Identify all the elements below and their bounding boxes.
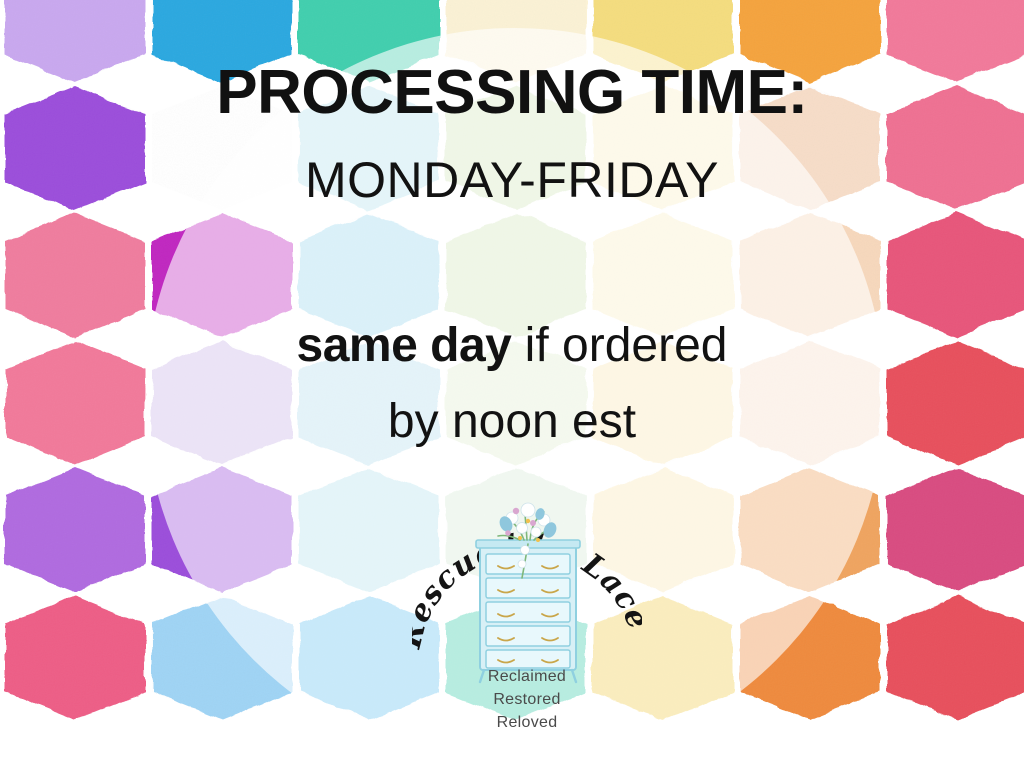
subtitle-days: MONDAY-FRIDAY xyxy=(0,155,1024,205)
announcement-graphic: PROCESSING TIME: MONDAY-FRIDAY same day … xyxy=(0,0,1024,768)
logo-illustration: Rescued by Lacey xyxy=(412,478,642,688)
tagline-line-1: Reclaimed xyxy=(412,668,642,686)
page-title: PROCESSING TIME: xyxy=(0,62,1024,124)
body-line-1: same day if ordered xyxy=(0,322,1024,370)
body-line-2: by noon est xyxy=(0,398,1024,446)
body-line-1-rest: if ordered xyxy=(511,319,727,372)
tagline-line-2: Restored xyxy=(412,691,642,709)
body-emphasis: same day xyxy=(297,319,512,372)
tagline-line-3: Reloved xyxy=(412,714,642,732)
dresser-icon xyxy=(476,540,580,682)
